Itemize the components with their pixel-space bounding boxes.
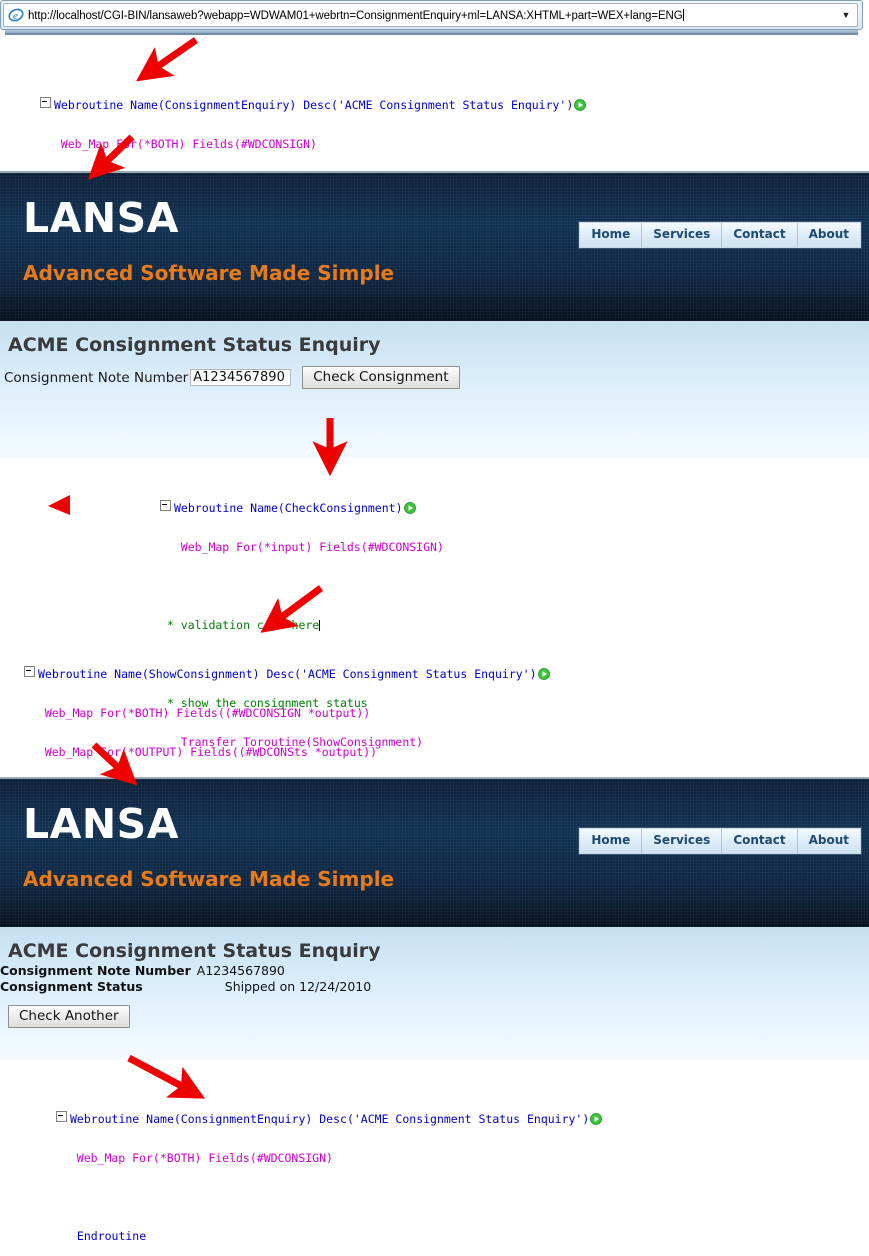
code-block-consignment-enquiry-final: Webroutine Name(ConsignmentEnquiry) Desc… xyxy=(56,1085,602,1256)
lansa-page-results: LANSA Advanced Software Made Simple Home… xyxy=(0,777,869,1060)
code-line: Web_Map For(*OUTPUT) Fields((#WDCONSts *… xyxy=(24,746,550,759)
collapse-toggle-icon[interactable] xyxy=(56,1111,67,1122)
nav-item-services[interactable]: Services xyxy=(642,223,722,247)
code-line: Webroutine Name(ConsignmentEnquiry) Desc… xyxy=(56,1111,602,1126)
pointer-triangle-left xyxy=(48,495,70,515)
page-content-results: ACME Consignment Status Enquiry Consignm… xyxy=(0,927,869,1060)
code-line: Webroutine Name(ShowConsignment) Desc('A… xyxy=(24,666,550,681)
nav-item-home[interactable]: Home xyxy=(580,223,642,247)
page-title: ACME Consignment Status Enquiry xyxy=(0,927,869,963)
lansa-tagline: Advanced Software Made Simple xyxy=(23,869,394,889)
url-bar[interactable]: e http://localhost/CGI-BIN/lansaweb?weba… xyxy=(3,3,858,27)
code-line-blank xyxy=(160,580,444,593)
address-bar-underline-dark xyxy=(5,33,858,35)
chevron-down-icon[interactable]: ▼ xyxy=(837,10,855,20)
internet-explorer-icon: e xyxy=(8,7,24,23)
consignment-note-number-label: Consignment Note Number xyxy=(4,370,190,386)
result-value-note-number: A1234567890 xyxy=(197,963,371,979)
nav-item-contact[interactable]: Contact xyxy=(722,829,797,853)
code-line: Web_Map For(*BOTH) Fields((#WDCONSIGN *o… xyxy=(24,707,550,720)
lansa-page-enquiry-form: LANSA Advanced Software Made Simple Home… xyxy=(0,171,869,458)
browser-address-bar: e http://localhost/CGI-BIN/lansaweb?weba… xyxy=(0,0,869,36)
check-consignment-button[interactable]: Check Consignment xyxy=(302,366,459,389)
banner-top-border xyxy=(0,777,869,779)
lansa-banner: LANSA Advanced Software Made Simple Home… xyxy=(0,777,869,927)
code-line: Webroutine Name(ConsignmentEnquiry) Desc… xyxy=(40,97,586,112)
arrow-to-consignment-enquiry-webroutine xyxy=(151,40,196,71)
run-webroutine-icon[interactable] xyxy=(590,1113,602,1125)
code-line: * validation code here xyxy=(160,619,444,632)
main-nav: Home Services Contact About xyxy=(579,222,861,248)
code-line: Web_Map For(*BOTH) Fields(#WDCONSIGN) xyxy=(40,138,586,151)
page-content-enquiry: ACME Consignment Status Enquiry Consignm… xyxy=(0,321,869,458)
lansa-banner: LANSA Advanced Software Made Simple Home… xyxy=(0,171,869,321)
code-line: Web_Map For(*BOTH) Fields(#WDCONSIGN) xyxy=(56,1152,602,1165)
run-webroutine-icon[interactable] xyxy=(538,668,550,680)
result-value-status: Shipped on 12/24/2010 xyxy=(197,979,371,995)
results-table: Consignment Note Number A1234567890 Cons… xyxy=(0,963,371,995)
code-line: Webroutine Name(CheckConsignment) xyxy=(160,500,444,515)
svg-text:e: e xyxy=(13,10,18,22)
consignment-form-row: Consignment Note Number Check Consignmen… xyxy=(0,357,869,389)
nav-item-services[interactable]: Services xyxy=(642,829,722,853)
code-line-blank xyxy=(56,1191,602,1204)
nav-item-home[interactable]: Home xyxy=(580,829,642,853)
code-line: Web_Map For(*input) Fields(#WDCONSIGN) xyxy=(160,541,444,554)
main-nav: Home Services Contact About xyxy=(579,828,861,854)
page-title: ACME Consignment Status Enquiry xyxy=(0,321,869,357)
nav-item-contact[interactable]: Contact xyxy=(722,223,797,247)
run-webroutine-icon[interactable] xyxy=(574,99,586,111)
collapse-toggle-icon[interactable] xyxy=(40,97,51,108)
collapse-toggle-icon[interactable] xyxy=(24,666,35,677)
lansa-tagline: Advanced Software Made Simple xyxy=(23,263,394,283)
lansa-logo: LANSA xyxy=(23,804,179,845)
table-row: Consignment Status Shipped on 12/24/2010 xyxy=(0,979,371,995)
table-row: Consignment Note Number A1234567890 xyxy=(0,963,371,979)
code-line: Endroutine xyxy=(70,1230,602,1243)
banner-top-border xyxy=(0,171,869,173)
check-another-button[interactable]: Check Another xyxy=(8,1005,130,1028)
run-webroutine-icon[interactable] xyxy=(404,502,416,514)
lansa-logo: LANSA xyxy=(23,198,179,239)
consignment-note-number-input[interactable] xyxy=(190,369,291,386)
nav-item-about[interactable]: About xyxy=(798,223,860,247)
result-label-status: Consignment Status xyxy=(0,979,197,995)
nav-item-about[interactable]: About xyxy=(798,829,860,853)
url-text: http://localhost/CGI-BIN/lansaweb?webapp… xyxy=(28,9,837,22)
result-label-note-number: Consignment Note Number xyxy=(0,963,197,979)
collapse-toggle-icon[interactable] xyxy=(160,500,171,511)
